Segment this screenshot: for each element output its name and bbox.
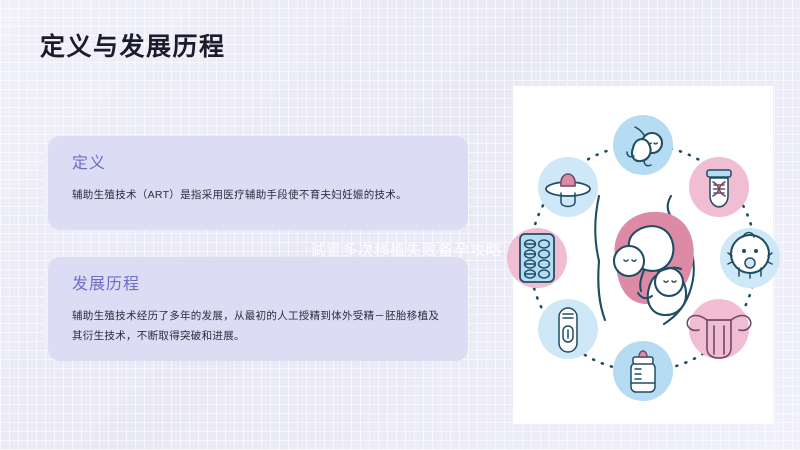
illustration-panel: .ol { fill: none; stroke: #1f4e63; strok… bbox=[513, 86, 773, 424]
dna-test-tube-icon bbox=[689, 157, 749, 217]
fetus-icon bbox=[613, 115, 673, 175]
pill-blister-icon bbox=[507, 228, 567, 288]
card-body-text: 辅助生殖技术经历了多年的发展，从最初的人工授精到体外受精－胚胎移植及其衍生技术，… bbox=[72, 306, 446, 346]
card-body-text: 辅助生殖技术（ART）是指采用医疗辅助手段使不育夫妇妊娠的技术。 bbox=[72, 185, 446, 205]
uterus-icon bbox=[687, 299, 751, 359]
card-heading: 发展历程 bbox=[72, 273, 446, 297]
baby-face-icon bbox=[720, 228, 780, 288]
pregnancy-test-icon bbox=[538, 299, 598, 359]
content-card-history: 发展历程 辅助生殖技术经历了多年的发展，从最初的人工授精到体外受精－胚胎移植及其… bbox=[48, 257, 468, 361]
pacifier-icon bbox=[538, 157, 598, 217]
baby-bottle-icon bbox=[613, 341, 673, 401]
content-card-list: 定义 辅助生殖技术（ART）是指采用医疗辅助手段使不育夫妇妊娠的技术。 发展历程… bbox=[48, 136, 468, 361]
content-card-definition: 定义 辅助生殖技术（ART）是指采用医疗辅助手段使不育夫妇妊娠的技术。 bbox=[48, 136, 468, 230]
card-heading: 定义 bbox=[72, 152, 446, 176]
pregnant-belly-with-twins-illustration bbox=[595, 196, 694, 324]
page-title: 定义与发展历程 bbox=[40, 30, 226, 64]
slide-canvas: 定义与发展历程 定义 辅助生殖技术（ART）是指采用医疗辅助手段使不育夫妇妊娠的… bbox=[0, 0, 800, 450]
